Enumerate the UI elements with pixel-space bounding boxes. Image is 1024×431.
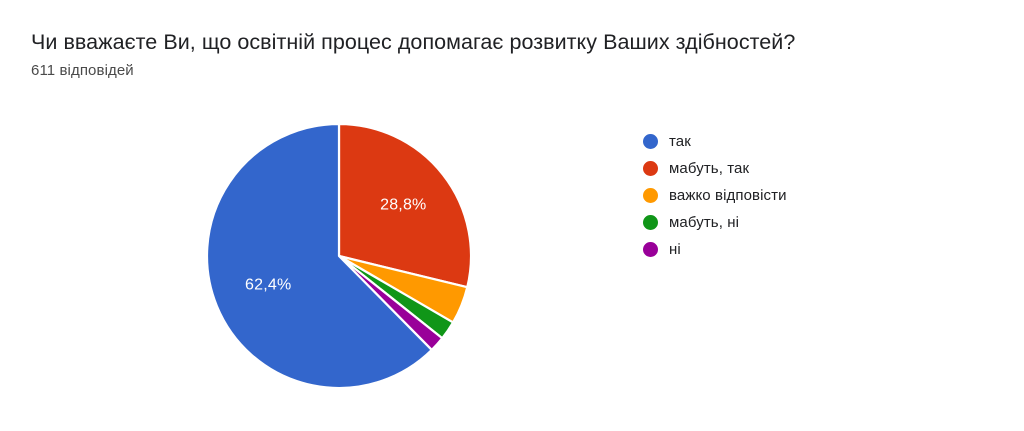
legend-swatch-vazhko [643, 188, 658, 203]
legend-item[interactable]: так [643, 128, 893, 155]
chart-area: 28,8%62,4% такмабуть, такважко відповіст… [0, 98, 1024, 431]
legend-item[interactable]: важко відповісти [643, 182, 893, 209]
pie-slice-label: 28,8% [380, 197, 426, 214]
legend-swatch-mabut-ni [643, 215, 658, 230]
legend-item-label: так [669, 133, 691, 150]
legend-item-label: важко відповісти [669, 187, 787, 204]
pie-slice-label: 62,4% [245, 276, 291, 293]
legend-item-label: мабуть, ні [669, 214, 739, 231]
chart-header: Чи вважаєте Ви, що освітній процес допом… [31, 28, 931, 81]
legend-swatch-ni [643, 242, 658, 257]
legend-item-label: мабуть, так [669, 160, 749, 177]
response-count-label: 611 відповідей [31, 61, 931, 81]
pie-chart-svg: 28,8%62,4% [205, 122, 473, 390]
pie-slices [207, 124, 471, 388]
legend-item-label: ні [669, 241, 681, 258]
legend-item[interactable]: ні [643, 236, 893, 263]
page-title: Чи вважаєте Ви, що освітній процес допом… [31, 28, 931, 56]
chart-page: Чи вважаєте Ви, що освітній процес допом… [0, 0, 1024, 431]
legend-item[interactable]: мабуть, ні [643, 209, 893, 236]
legend-swatch-tak [643, 134, 658, 149]
legend-item[interactable]: мабуть, так [643, 155, 893, 182]
pie-chart: 28,8%62,4% [205, 122, 473, 390]
chart-legend: такмабуть, такважко відповістимабуть, ні… [643, 128, 893, 263]
legend-swatch-mabut-tak [643, 161, 658, 176]
